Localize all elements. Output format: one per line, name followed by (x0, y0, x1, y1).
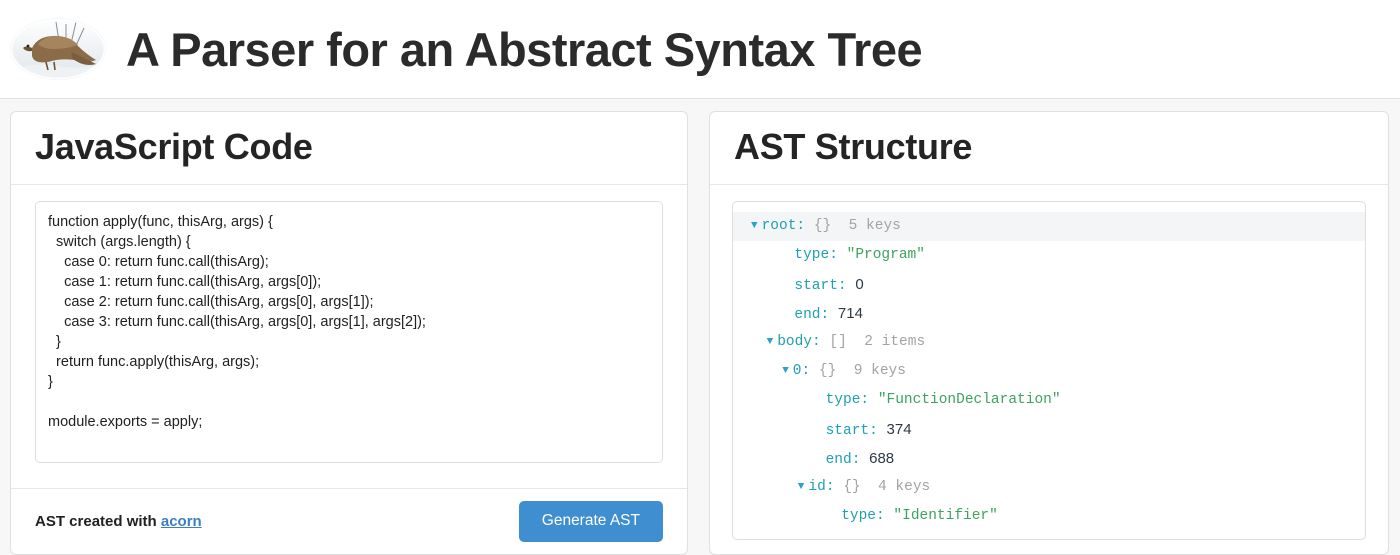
javascript-code-card-footer: AST created with acorn Generate AST (11, 488, 687, 554)
ast-tree-string-value: "FunctionDeclaration" (878, 392, 1061, 408)
tree-indent-spacer (777, 307, 794, 323)
javascript-code-heading: JavaScript Code (35, 128, 663, 167)
chevron-down-icon[interactable]: ▼ (751, 212, 758, 241)
ast-tree-row[interactable]: start: 0 (733, 270, 1365, 299)
page-title: A Parser for an Abstract Syntax Tree (126, 26, 922, 73)
ast-tree-separator: : (860, 392, 877, 408)
ast-tree-brace: [] (829, 334, 864, 350)
chevron-down-icon[interactable]: ▼ (798, 473, 805, 502)
ast-tree-key: type (841, 508, 876, 524)
ast-tree-number-value: 374 (887, 421, 912, 438)
ast-tree-key: type (826, 392, 861, 408)
ast-tree-key: start (826, 423, 870, 439)
ast-tree-key: body (777, 334, 812, 350)
javascript-code-input[interactable] (35, 201, 663, 463)
ast-tree-separator: : (821, 307, 838, 323)
ast-tree-row[interactable]: type: "Program" (733, 241, 1365, 270)
ast-tree-row[interactable]: end: 688 (733, 444, 1365, 473)
tree-indent-spacer (808, 423, 825, 439)
ast-structure-heading: AST Structure (734, 128, 1364, 167)
ast-structure-card-header: AST Structure (710, 112, 1388, 185)
ast-tree-row[interactable]: end: 714 (733, 299, 1365, 328)
javascript-code-card-header: JavaScript Code (11, 112, 687, 185)
bird-photo-logo (10, 18, 106, 80)
acorn-link[interactable]: acorn (161, 513, 202, 530)
page-body: JavaScript Code AST created with acorn G… (0, 99, 1400, 555)
tree-indent-spacer (808, 392, 825, 408)
ast-tree-separator: : (812, 334, 829, 350)
ast-tree-brace: {} (819, 363, 854, 379)
ast-credit-note: AST created with acorn (35, 513, 202, 530)
javascript-code-card: JavaScript Code AST created with acorn G… (10, 111, 688, 555)
ast-tree-separator: : (869, 423, 886, 439)
ast-tree-key: id (808, 479, 825, 495)
ast-tree-key: end (794, 307, 820, 323)
ast-tree-string-value: "Identifier" (893, 508, 997, 524)
ast-tree-separator: : (826, 479, 843, 495)
ast-tree-key: type (794, 247, 829, 263)
ast-tree-key: 0 (793, 363, 802, 379)
tree-indent-spacer (808, 452, 825, 468)
generate-ast-button[interactable]: Generate AST (519, 501, 663, 542)
ast-tree-row[interactable]: ▼0: {} 9 keys (733, 357, 1365, 386)
ast-tree-count: 4 keys (878, 479, 930, 495)
tree-indent-spacer (777, 278, 794, 294)
ast-tree-row[interactable]: type: "Identifier" (733, 502, 1365, 531)
chevron-down-icon[interactable]: ▼ (767, 328, 774, 357)
ast-tree-row[interactable]: start: 374 (733, 415, 1365, 444)
javascript-code-card-body (11, 185, 687, 489)
ast-tree-brace: {} (814, 218, 849, 234)
ast-tree-row[interactable]: ▼body: [] 2 items (733, 328, 1365, 357)
ast-tree-viewer[interactable]: ▼root: {} 5 keys type: "Program" start: … (732, 201, 1366, 540)
ast-credit-text: AST created with (35, 513, 161, 530)
tree-indent-spacer (824, 508, 841, 524)
ast-tree-separator: : (852, 452, 869, 468)
ast-tree-key: end (826, 452, 852, 468)
ast-tree-row[interactable]: type: "FunctionDeclaration" (733, 386, 1365, 415)
ast-tree-number-value: 688 (869, 450, 894, 467)
ast-tree-number-value: 714 (838, 305, 863, 322)
ast-tree-separator: : (796, 218, 813, 234)
ast-tree-brace: {} (843, 479, 878, 495)
ast-structure-card-body: ▼root: {} 5 keys type: "Program" start: … (710, 185, 1388, 554)
page-header: A Parser for an Abstract Syntax Tree (0, 0, 1400, 99)
ast-tree-separator: : (802, 363, 819, 379)
ast-tree-count: 2 items (864, 334, 925, 350)
ast-tree-separator: : (838, 278, 855, 294)
ast-tree-separator: : (829, 247, 846, 263)
ast-tree-row[interactable]: ▼id: {} 4 keys (733, 473, 1365, 502)
ast-tree-string-value: "Program" (847, 247, 925, 263)
ast-tree-row[interactable]: ▼root: {} 5 keys (733, 212, 1365, 241)
ast-tree-count: 9 keys (854, 363, 906, 379)
ast-tree-key: root (762, 218, 797, 234)
ast-tree-number-value: 0 (855, 276, 863, 293)
ast-structure-card: AST Structure ▼root: {} 5 keys type: "Pr… (709, 111, 1389, 555)
ast-tree-separator: : (876, 508, 893, 524)
chevron-down-icon[interactable]: ▼ (782, 357, 789, 386)
ast-tree-key: start (794, 278, 838, 294)
ast-tree-count: 5 keys (849, 218, 901, 234)
tree-indent-spacer (777, 247, 794, 263)
